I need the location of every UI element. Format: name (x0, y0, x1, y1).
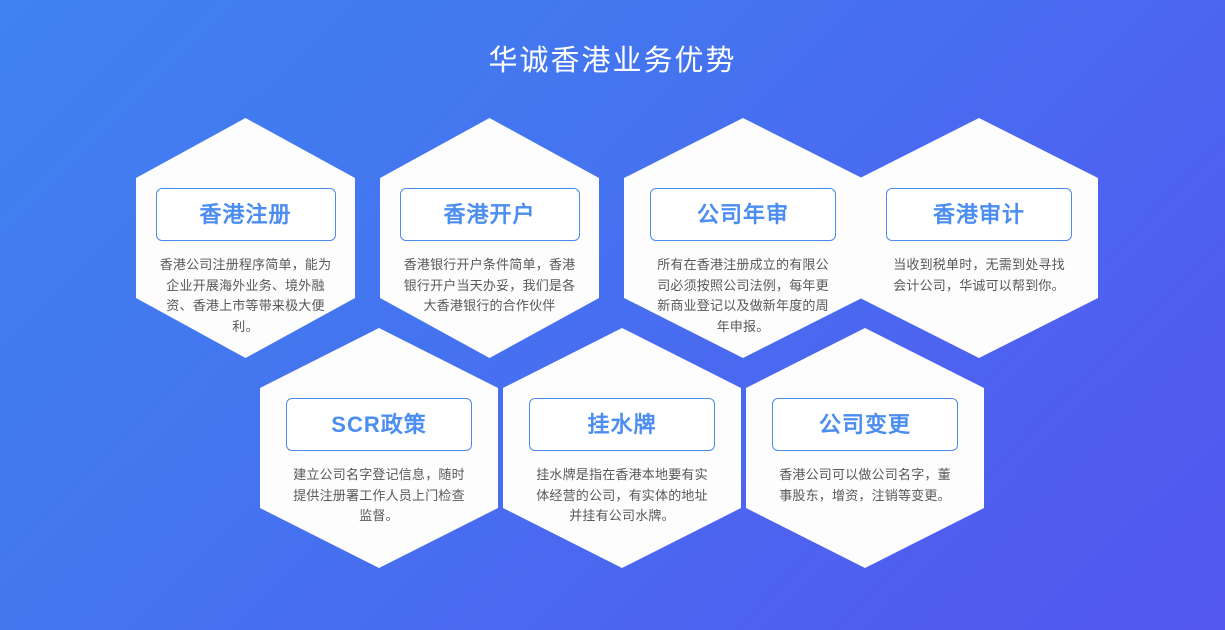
hex-card-hang-water-plaque[interactable]: 挂水牌 挂水牌是指在香港本地要有实体经营的公司，有实体的地址并挂有公司水牌。 (503, 328, 741, 568)
hex-card-scr-policy[interactable]: SCR政策 建立公司名字登记信息，随时提供注册署工作人员上门检查监督。 (260, 328, 498, 568)
hex-card-title-box: 香港注册 (156, 188, 336, 241)
infographic-canvas: 华诚香港业务优势 香港注册 香港公司注册程序简单，能为企业开展海外业务、境外融资… (0, 0, 1225, 630)
hex-card-title: 挂水牌 (587, 412, 656, 438)
hex-card-title: 公司变更 (819, 412, 911, 438)
hex-card-description: 香港银行开户条件简单，香港银行开户当天办妥，我们是各大香港银行的合作伙伴 (404, 255, 576, 317)
hex-card-title-box: 挂水牌 (529, 398, 715, 451)
hex-card-content: SCR政策 建立公司名字登记信息，随时提供注册署工作人员上门检查监督。 (260, 328, 498, 568)
hex-card-title-box: 香港审计 (886, 188, 1072, 241)
hex-card-title-box: 公司年审 (650, 188, 836, 241)
hex-card-company-annual-review[interactable]: 公司年审 所有在香港注册成立的有限公司必须按照公司法例，每年更新商业登记以及做新… (624, 118, 862, 358)
hex-card-title: 香港审计 (933, 202, 1025, 228)
hex-card-content: 公司年审 所有在香港注册成立的有限公司必须按照公司法例，每年更新商业登记以及做新… (624, 118, 862, 358)
hex-card-description: 香港公司可以做公司名字，董事股东，增资，注销等变更。 (775, 465, 955, 506)
hex-card-description: 所有在香港注册成立的有限公司必须按照公司法例，每年更新商业登记以及做新年度的周年… (653, 255, 833, 337)
hex-card-content: 香港审计 当收到税单时，无需到处寻找会计公司，华诚可以帮到你。 (860, 118, 1098, 358)
hex-card-description: 当收到税单时，无需到处寻找会计公司，华诚可以帮到你。 (889, 255, 1069, 296)
hex-card-content: 香港注册 香港公司注册程序简单，能为企业开展海外业务、境外融资、香港上市等带来极… (136, 118, 355, 358)
hex-card-content: 香港开户 香港银行开户条件简单，香港银行开户当天办妥，我们是各大香港银行的合作伙… (380, 118, 599, 358)
hex-card-hong-kong-bank-account[interactable]: 香港开户 香港银行开户条件简单，香港银行开户当天办妥，我们是各大香港银行的合作伙… (380, 118, 599, 358)
hex-card-title: 香港开户 (443, 202, 535, 228)
hex-card-title: 公司年审 (697, 202, 789, 228)
hex-card-hong-kong-audit[interactable]: 香港审计 当收到税单时，无需到处寻找会计公司，华诚可以帮到你。 (860, 118, 1098, 358)
hex-card-title-box: SCR政策 (286, 398, 472, 451)
hex-card-description: 建立公司名字登记信息，随时提供注册署工作人员上门检查监督。 (289, 465, 469, 527)
hex-card-hong-kong-registration[interactable]: 香港注册 香港公司注册程序简单，能为企业开展海外业务、境外融资、香港上市等带来极… (136, 118, 355, 358)
hex-card-title: SCR政策 (331, 412, 426, 438)
hex-card-title-box: 公司变更 (772, 398, 958, 451)
page-title: 华诚香港业务优势 (0, 42, 1225, 80)
hex-card-content: 挂水牌 挂水牌是指在香港本地要有实体经营的公司，有实体的地址并挂有公司水牌。 (503, 328, 741, 568)
hex-card-company-change[interactable]: 公司变更 香港公司可以做公司名字，董事股东，增资，注销等变更。 (746, 328, 984, 568)
hex-card-content: 公司变更 香港公司可以做公司名字，董事股东，增资，注销等变更。 (746, 328, 984, 568)
hex-card-description: 挂水牌是指在香港本地要有实体经营的公司，有实体的地址并挂有公司水牌。 (532, 465, 712, 527)
hex-card-title-box: 香港开户 (400, 188, 580, 241)
hex-card-description: 香港公司注册程序简单，能为企业开展海外业务、境外融资、香港上市等带来极大便利。 (160, 255, 332, 337)
hex-card-title: 香港注册 (199, 202, 291, 228)
